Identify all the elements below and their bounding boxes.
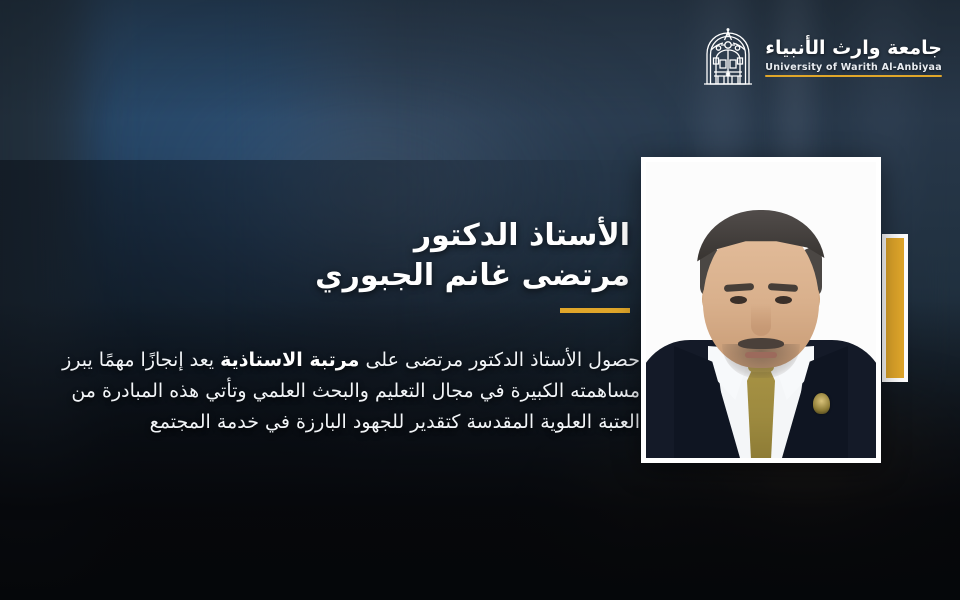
svg-text:ﷺ: ﷺ <box>725 69 731 77</box>
brand-name-arabic: جامعة وارث الأنبياء <box>765 37 942 61</box>
gold-accent-bar <box>886 238 904 378</box>
body-part-1: حصول الأستاذ الدكتور مرتضى على <box>359 349 640 371</box>
gold-accent-bar-frame <box>882 234 908 382</box>
portrait-lapel-pin <box>813 393 830 414</box>
portrait-eye-left <box>730 296 747 304</box>
headline-block: الأستاذ الدكتور مرتضى غانم الجبوري <box>320 216 630 313</box>
brand-name-english: University of Warith Al-Anbiyaa <box>765 62 942 73</box>
portrait-frame <box>641 157 881 463</box>
brand-underline-rule <box>765 75 942 77</box>
brand-name-english-block: University of Warith Al-Anbiyaa <box>765 62 942 77</box>
body-emphasis: مرتبة الاستاذية <box>220 349 359 371</box>
portrait-necktie <box>747 366 775 458</box>
headline-line-1: الأستاذ الدكتور <box>320 216 630 256</box>
portrait-mustache <box>738 338 784 349</box>
brand-text-block: جامعة وارث الأنبياء University of Warith… <box>765 37 942 80</box>
headline-line-2: مرتضى غانم الجبوري <box>320 256 630 296</box>
university-emblem-icon: ﷺ <box>701 28 755 88</box>
portrait-nose <box>751 304 771 336</box>
headline-gold-rule <box>560 308 630 313</box>
portrait-mouth <box>745 352 777 358</box>
brand-lockup: جامعة وارث الأنبياء University of Warith… <box>701 28 942 88</box>
portrait-eye-right <box>775 296 792 304</box>
announcement-banner: جامعة وارث الأنبياء University of Warith… <box>0 0 960 600</box>
portrait-photo <box>646 162 876 458</box>
body-paragraph: حصول الأستاذ الدكتور مرتضى على مرتبة الا… <box>40 345 640 437</box>
